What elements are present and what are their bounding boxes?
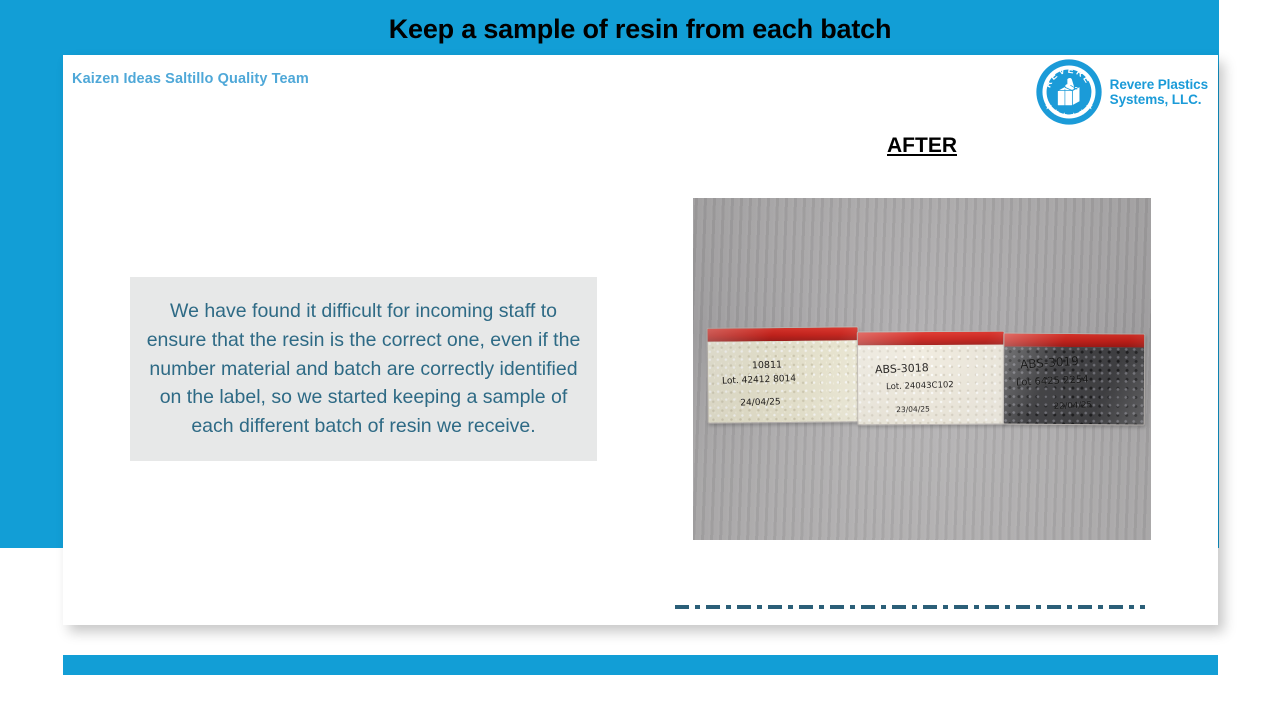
explanation-text: We have found it difficult for incoming … <box>130 297 597 441</box>
revere-emblem-icon: REVERE <box>1035 58 1103 126</box>
dash-dot-divider <box>675 605 1145 609</box>
slide-title: Keep a sample of resin from each batch <box>0 14 1280 45</box>
card-header-label: Kaizen Ideas Saltillo Quality Team <box>72 71 309 87</box>
bottom-blue-bar <box>63 655 1218 675</box>
company-name: Revere Plastics Systems, LLC. <box>1110 77 1208 107</box>
after-heading: AFTER <box>887 134 957 158</box>
resin-sample-photo: 10811 Lot. 42412 8014 24/04/25 ABS-3018 … <box>693 198 1151 540</box>
content-card: Kaizen Ideas Saltillo Quality Team REVER… <box>63 55 1218 625</box>
slide-canvas: Keep a sample of resin from each batch K… <box>0 0 1280 720</box>
photo-vignette <box>693 198 1151 540</box>
company-logo: REVERE Rev <box>1035 58 1208 126</box>
explanation-text-box: We have found it difficult for incoming … <box>130 277 597 461</box>
